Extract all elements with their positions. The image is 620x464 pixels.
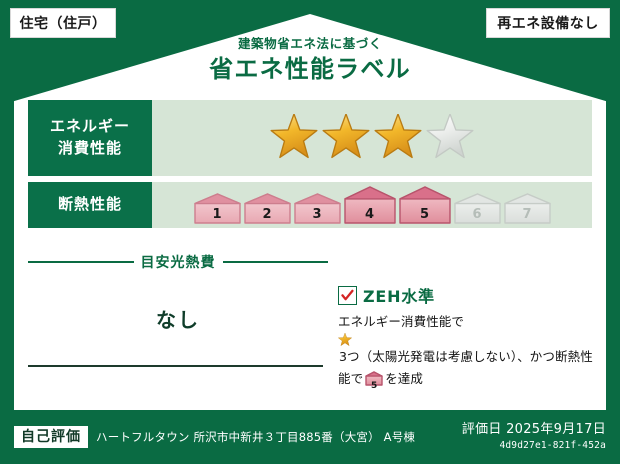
- insulation-grade-6: 6: [454, 193, 501, 224]
- row-energy-label-line2: 消費性能: [58, 138, 122, 160]
- row-energy-value: [152, 100, 592, 176]
- row-insulation-label: 断熱性能: [28, 182, 152, 228]
- star-rating: [270, 114, 474, 162]
- star-2: [322, 114, 370, 162]
- row-insulation-label-line1: 断熱性能: [58, 194, 122, 216]
- insulation-grade-7-number: 7: [504, 208, 551, 221]
- evaluation-date: 評価日 2025年9月17日: [462, 422, 606, 439]
- star-1: [270, 114, 318, 162]
- check-icon: [341, 289, 354, 302]
- insulation-grade-1-number: 1: [194, 208, 241, 221]
- row-energy-label-line1: エネルギー: [50, 116, 130, 138]
- insulation-grade-5-number: 5: [399, 208, 451, 221]
- performance-rows: エネルギー 消費性能 断熱性能 1234567: [28, 100, 592, 234]
- insulation-grade-1: 1: [194, 193, 241, 224]
- insulation-grade-scale: 1234567: [194, 186, 551, 224]
- row-energy-performance: エネルギー 消費性能: [28, 100, 592, 176]
- zeh-checkbox[interactable]: [338, 286, 357, 305]
- zeh-title-row: ZEH水準: [338, 283, 596, 307]
- insulation-grade-2-number: 2: [244, 208, 291, 221]
- zeh-section: ZEH水準 エネルギー消費性能で3つ（太陽光発電は考慮しない）、かつ断熱性能で5…: [338, 283, 596, 391]
- insulation-grade-4-number: 4: [344, 208, 396, 221]
- utility-cost-section: 目安光熱費 なし: [28, 252, 328, 367]
- title-main: 省エネ性能ラベル: [0, 54, 620, 84]
- badge-renewable-equipment: 再エネ設備なし: [486, 8, 610, 38]
- insulation-grade-4: 4: [344, 186, 396, 224]
- insulation-grade-3-number: 3: [294, 208, 341, 221]
- zeh-desc-part3: を達成: [385, 371, 423, 386]
- utility-cost-value: なし: [28, 304, 328, 333]
- self-evaluation-badge: 自己評価: [14, 426, 88, 449]
- star-4: [426, 114, 474, 162]
- insulation-grade-6-number: 6: [454, 208, 501, 221]
- property-name: ハートフルタウン 所沢市中新井３丁目885番（大宮） A号棟: [96, 429, 462, 445]
- inline-grade-house-icon: 5: [365, 371, 383, 391]
- utility-cost-heading-text: 目安光熱費: [141, 252, 216, 272]
- title-subtitle: 建築物省エネ法に基づく: [0, 36, 620, 51]
- star-3: [374, 114, 422, 162]
- heading-rule-left: [28, 261, 134, 263]
- zeh-desc-part1: エネルギー消費性能で: [338, 314, 464, 329]
- energy-label-root: 住宅（住戸） 再エネ設備なし 建築物省エネ法に基づく 省エネ性能ラベル エネルギ…: [0, 0, 620, 464]
- row-insulation-performance: 断熱性能 1234567: [28, 182, 592, 228]
- label-footer: 自己評価 ハートフルタウン 所沢市中新井３丁目885番（大宮） A号棟 評価日 …: [0, 410, 620, 464]
- badge-housing-type: 住宅（住戸）: [10, 8, 116, 38]
- insulation-grade-7: 7: [504, 193, 551, 224]
- insulation-grade-2: 2: [244, 193, 291, 224]
- row-insulation-value: 1234567: [152, 182, 592, 228]
- insulation-grade-5: 5: [399, 186, 451, 224]
- utility-cost-underline: [28, 365, 323, 367]
- inline-star-icon: [338, 333, 596, 347]
- evaluation-info: 評価日 2025年9月17日 4d9d27e1-821f-452a: [462, 422, 606, 452]
- evaluation-id: 4d9d27e1-821f-452a: [462, 440, 606, 452]
- row-energy-label: エネルギー 消費性能: [28, 100, 152, 176]
- label-title-block: 建築物省エネ法に基づく 省エネ性能ラベル: [0, 36, 620, 84]
- insulation-grade-3: 3: [294, 193, 341, 224]
- zeh-description: エネルギー消費性能で3つ（太陽光発電は考慮しない）、かつ断熱性能で5を達成: [338, 312, 596, 391]
- heading-rule-right: [223, 261, 329, 263]
- utility-cost-heading: 目安光熱費: [28, 252, 328, 272]
- zeh-title: ZEH水準: [363, 283, 435, 307]
